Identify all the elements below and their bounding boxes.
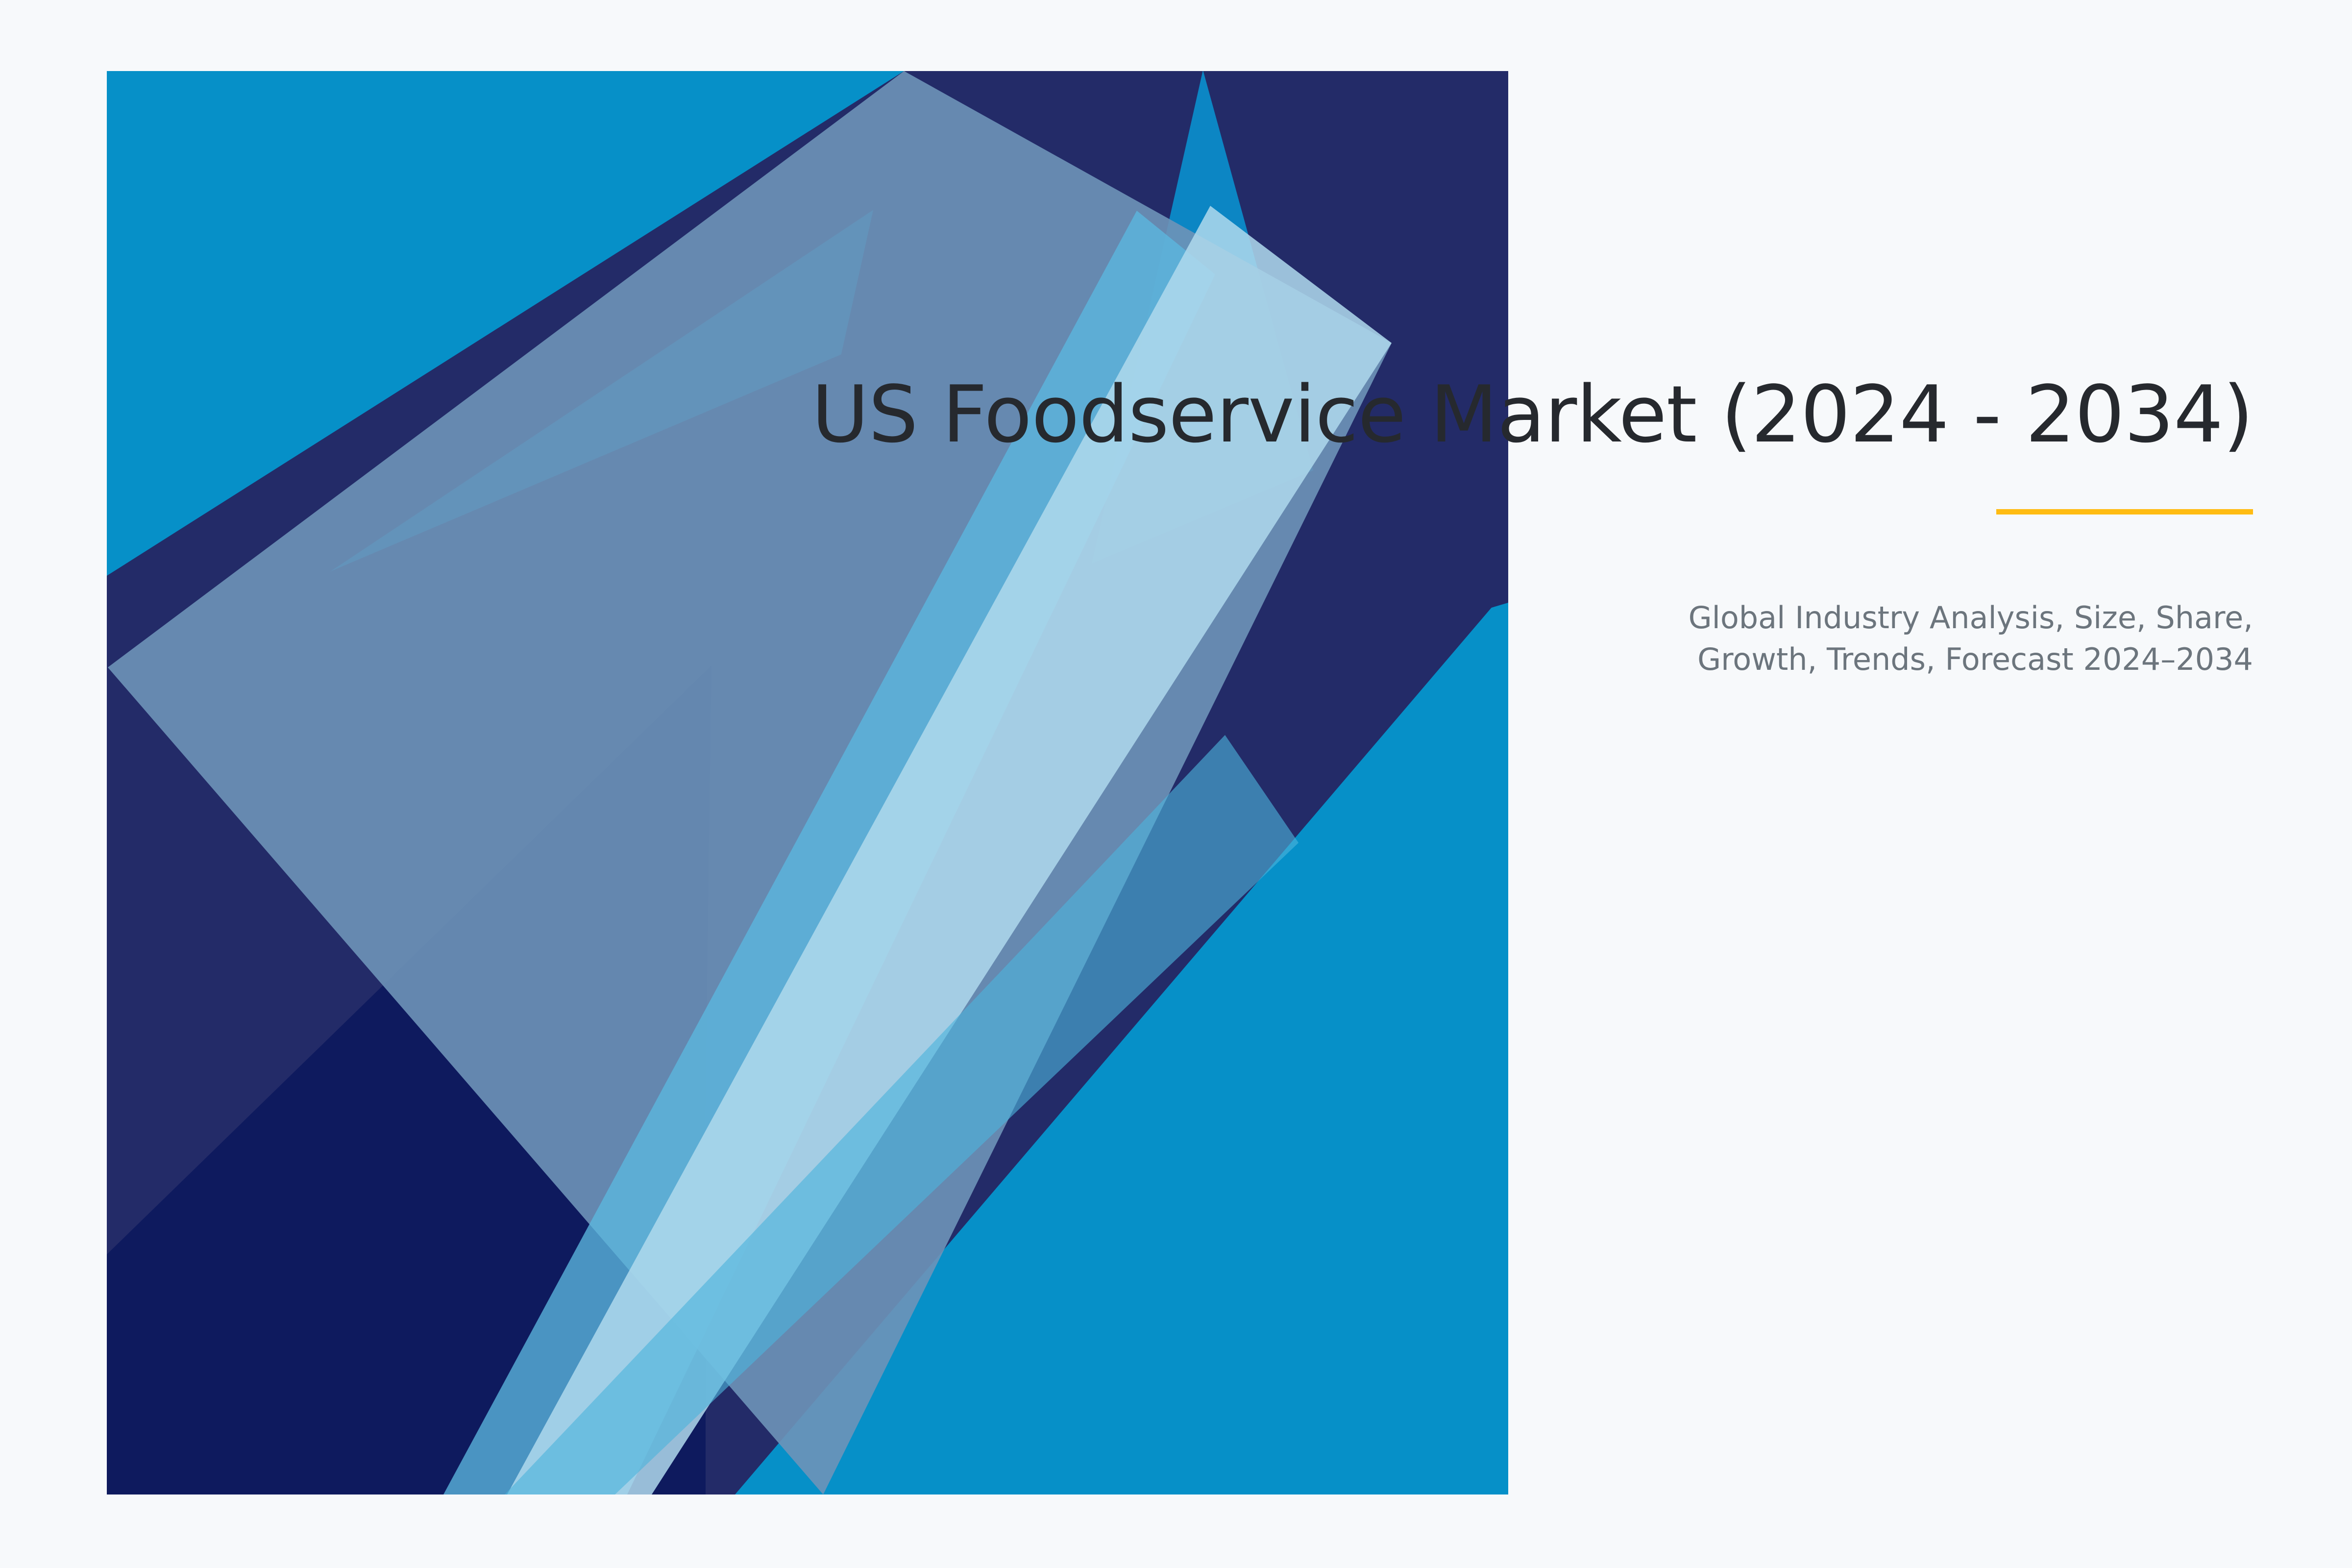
title-slide: US Foodservice Market (2024 - 2034) Glob… — [0, 0, 2352, 1568]
page-subtitle: Global Industry Analysis, Size, Share, G… — [1621, 597, 2253, 681]
abstract-geometric-cover-art — [0, 0, 2352, 1568]
accent-rule-container — [735, 509, 2253, 514]
accent-rule — [1996, 509, 2253, 514]
page-title: US Foodservice Market (2024 - 2034) — [735, 372, 2253, 457]
title-text-block: US Foodservice Market (2024 - 2034) Glob… — [735, 372, 2253, 711]
